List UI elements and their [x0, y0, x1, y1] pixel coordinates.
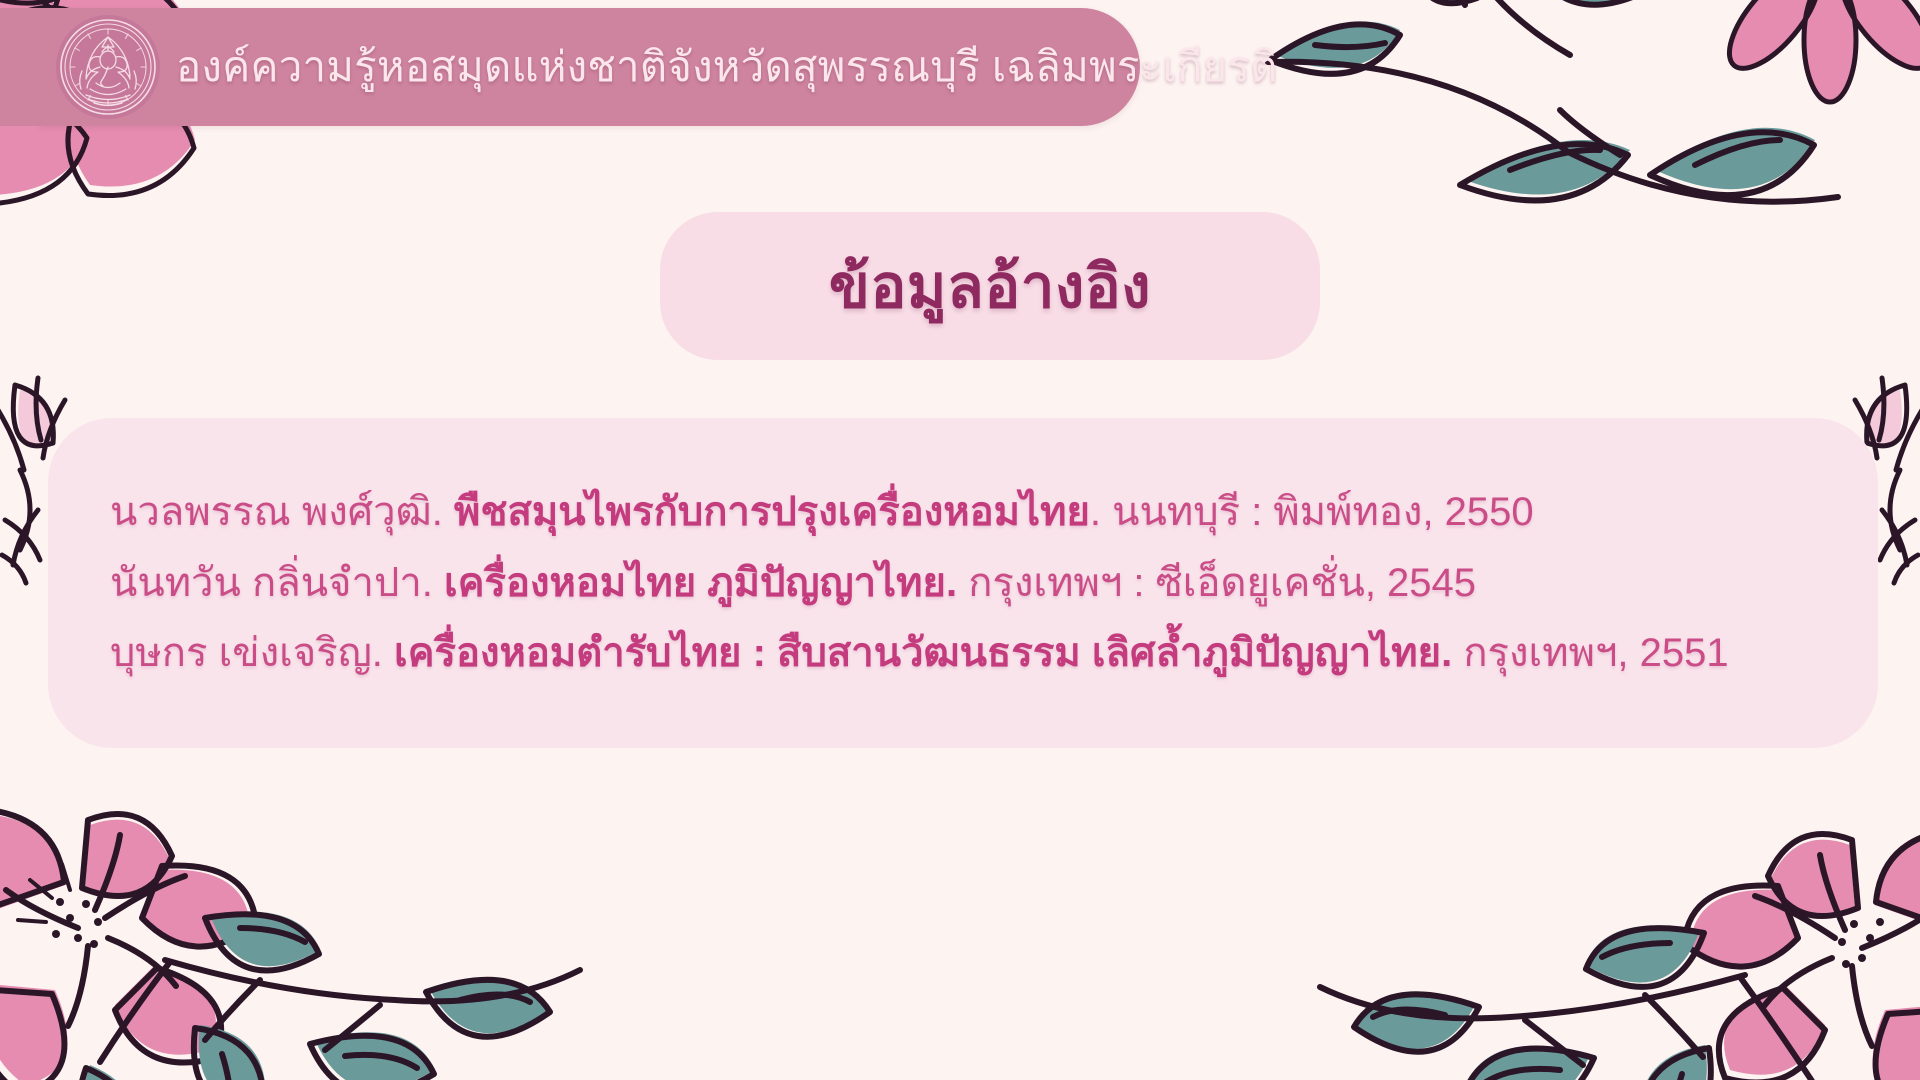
reference-author: นวลพรรณ พงศ์วุฒิ.: [110, 490, 454, 534]
reference-author: นันทวัน กลิ่นจำปา.: [110, 561, 444, 605]
section-title-text: ข้อมูลอ้างอิง: [829, 239, 1151, 334]
reference-publication: กรุงเทพฯ, 2551: [1452, 631, 1728, 675]
reference-line: บุษกร เข่งเจริญ. เครื่องหอมตำรับไทย : สื…: [110, 627, 1816, 680]
leaf-branch-top-right-icon: [1260, 0, 1920, 310]
reference-title: พืชสมุนไพรกับการปรุงเครื่องหอมไทย: [454, 490, 1090, 534]
reference-line: นันทวัน กลิ่นจำปา. เครื่องหอมไทย ภูมิปัญ…: [110, 557, 1816, 610]
reference-line: นวลพรรณ พงศ์วุฒิ. พืชสมุนไพรกับการปรุงเค…: [110, 486, 1816, 539]
slide-canvas: องค์ความรู้หอสมุดแห่งชาติจังหวัดสุพรรณบุ…: [0, 0, 1920, 1080]
reference-publication: กรุงเทพฯ : ซีเอ็ดยูเคชั่น, 2545: [957, 561, 1476, 605]
reference-publication: . นนทบุรี : พิมพ์ทอง, 2550: [1090, 490, 1534, 534]
references-card: นวลพรรณ พงศ์วุฒิ. พืชสมุนไพรกับการปรุงเค…: [48, 418, 1878, 748]
reference-title: เครื่องหอมตำรับไทย : สืบสานวัฒนธรรม เลิศ…: [394, 631, 1452, 675]
header-title: องค์ความรู้หอสมุดแห่งชาติจังหวัดสุพรรณบุ…: [176, 34, 1278, 100]
header-banner: องค์ความรู้หอสมุดแห่งชาติจังหวัดสุพรรณบุ…: [40, 8, 1140, 126]
flower-branch-bottom-left-icon: [0, 810, 580, 1080]
section-title-pill: ข้อมูลอ้างอิง: [660, 212, 1320, 360]
ganesha-seal-emblem-icon: [56, 15, 160, 119]
reference-author: บุษกร เข่งเจริญ.: [110, 631, 394, 675]
flower-branch-bottom-right-icon: [1290, 810, 1920, 1080]
reference-title: เครื่องหอมไทย ภูมิปัญญาไทย.: [444, 561, 957, 605]
